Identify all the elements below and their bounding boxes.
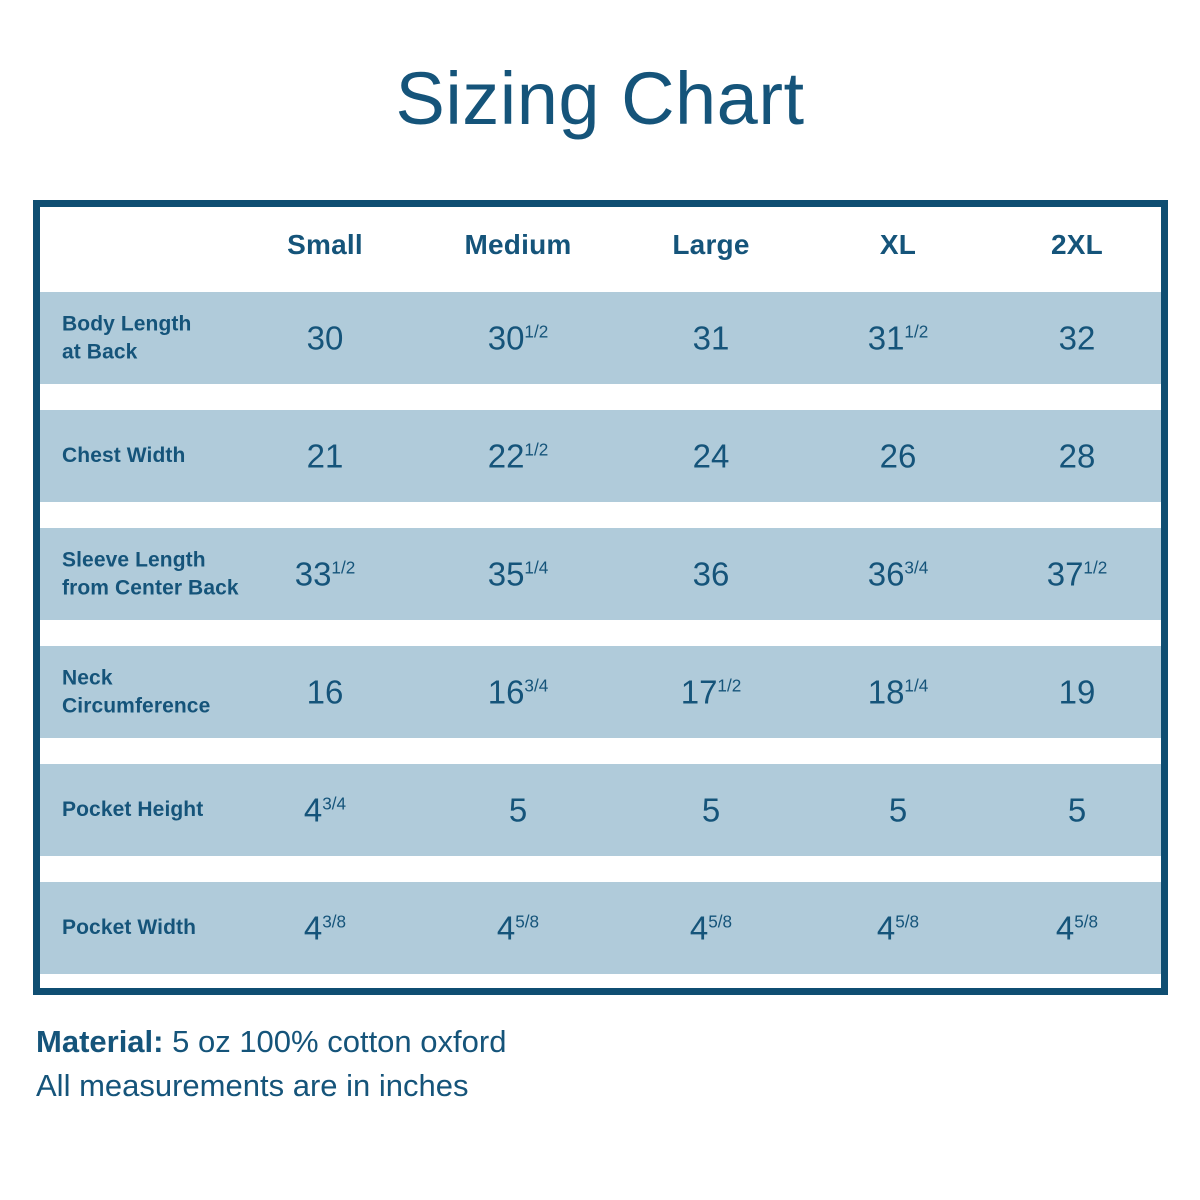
- measurement-whole: 30: [307, 320, 344, 357]
- sizing-table: SmallMediumLargeXL2XL Body Length at Bac…: [33, 200, 1168, 995]
- measurement-whole: 33: [295, 556, 332, 593]
- material-note: Material: 5 oz 100% cotton oxford: [36, 1020, 836, 1064]
- measurement-whole: 31: [693, 320, 730, 357]
- measurement-whole: 4: [877, 910, 895, 947]
- row-label: Pocket Height: [62, 796, 203, 824]
- measurement-fraction: 1/2: [524, 322, 548, 342]
- column-header-large: Large: [672, 229, 749, 261]
- measurement-fraction: 3/4: [904, 558, 928, 578]
- measurement-cell: 45/8: [877, 912, 919, 945]
- measurement-fraction: 1/2: [1083, 558, 1107, 578]
- column-header-2xl: 2XL: [1051, 229, 1103, 261]
- page-title: Sizing Chart: [0, 62, 1200, 136]
- row-label: Chest Width: [62, 442, 185, 470]
- units-note: All measurements are in inches: [36, 1064, 836, 1108]
- measurement-whole: 17: [681, 674, 718, 711]
- measurement-cell: 171/2: [681, 676, 742, 709]
- table-row: Sleeve Length from Center Back331/2351/4…: [40, 528, 1161, 620]
- measurement-whole: 16: [488, 674, 525, 711]
- measurement-cell: 5: [702, 794, 720, 827]
- measurement-cell: 5: [889, 794, 907, 827]
- measurement-cell: 371/2: [1047, 558, 1108, 591]
- measurement-fraction: 1/2: [904, 322, 928, 342]
- column-header-small: Small: [287, 229, 363, 261]
- measurement-whole: 19: [1059, 674, 1096, 711]
- measurement-fraction: 1/2: [717, 676, 741, 696]
- measurement-whole: 36: [868, 556, 905, 593]
- measurement-fraction: 5/8: [515, 912, 539, 932]
- material-label: Material:: [36, 1024, 163, 1059]
- row-label: Body Length at Back: [62, 310, 191, 365]
- measurement-cell: 19: [1059, 676, 1096, 709]
- table-row: Neck Circumference16163/4171/2181/419: [40, 646, 1161, 738]
- table-row: Pocket Height43/45555: [40, 764, 1161, 856]
- table-header-row: SmallMediumLargeXL2XL: [40, 207, 1161, 292]
- measurement-fraction: 5/8: [895, 912, 919, 932]
- measurement-whole: 5: [702, 792, 720, 829]
- footer-notes: Material: 5 oz 100% cotton oxford All me…: [36, 1020, 836, 1108]
- table-row: Chest Width21221/2242628: [40, 410, 1161, 502]
- measurement-whole: 26: [880, 438, 917, 475]
- measurement-whole: 4: [304, 910, 322, 947]
- measurement-cell: 28: [1059, 440, 1096, 473]
- measurement-cell: 163/4: [488, 676, 549, 709]
- measurement-fraction: 3/8: [322, 912, 346, 932]
- measurement-fraction: 5/8: [708, 912, 732, 932]
- measurement-whole: 4: [304, 792, 322, 829]
- measurement-whole: 24: [693, 438, 730, 475]
- measurement-whole: 36: [693, 556, 730, 593]
- sizing-chart-page: Sizing Chart SmallMediumLargeXL2XL Body …: [0, 0, 1200, 1200]
- row-label: Neck Circumference: [62, 664, 210, 719]
- measurement-cell: 221/2: [488, 440, 549, 473]
- measurement-whole: 5: [889, 792, 907, 829]
- sizing-table-body: SmallMediumLargeXL2XL Body Length at Bac…: [40, 207, 1161, 988]
- measurement-cell: 36: [693, 558, 730, 591]
- measurement-whole: 4: [1056, 910, 1074, 947]
- measurement-cell: 31: [693, 322, 730, 355]
- measurement-whole: 32: [1059, 320, 1096, 357]
- measurement-cell: 331/2: [295, 558, 356, 591]
- measurement-cell: 311/2: [868, 322, 929, 355]
- measurement-whole: 22: [488, 438, 525, 475]
- measurement-cell: 32: [1059, 322, 1096, 355]
- measurement-fraction: 1/4: [904, 676, 928, 696]
- table-row: Body Length at Back30301/231311/232: [40, 292, 1161, 384]
- measurement-whole: 4: [497, 910, 515, 947]
- measurement-whole: 28: [1059, 438, 1096, 475]
- measurement-fraction: 1/2: [524, 440, 548, 460]
- measurement-whole: 5: [1068, 792, 1086, 829]
- measurement-cell: 21: [307, 440, 344, 473]
- material-value: 5 oz 100% cotton oxford: [172, 1024, 506, 1059]
- measurement-cell: 45/8: [690, 912, 732, 945]
- measurement-whole: 35: [488, 556, 525, 593]
- measurement-cell: 30: [307, 322, 344, 355]
- measurement-cell: 5: [509, 794, 527, 827]
- measurement-cell: 5: [1068, 794, 1086, 827]
- measurement-whole: 18: [868, 674, 905, 711]
- measurement-cell: 16: [307, 676, 344, 709]
- measurement-cell: 45/8: [1056, 912, 1098, 945]
- measurement-fraction: 3/4: [322, 794, 346, 814]
- measurement-cell: 301/2: [488, 322, 549, 355]
- measurement-cell: 26: [880, 440, 917, 473]
- measurement-whole: 21: [307, 438, 344, 475]
- measurement-whole: 37: [1047, 556, 1084, 593]
- measurement-whole: 16: [307, 674, 344, 711]
- measurement-cell: 24: [693, 440, 730, 473]
- measurement-fraction: 1/2: [331, 558, 355, 578]
- measurement-fraction: 3/4: [524, 676, 548, 696]
- measurement-cell: 43/8: [304, 912, 346, 945]
- measurement-cell: 351/4: [488, 558, 549, 591]
- measurement-whole: 30: [488, 320, 525, 357]
- measurement-whole: 4: [690, 910, 708, 947]
- measurement-fraction: 1/4: [524, 558, 548, 578]
- measurement-fraction: 5/8: [1074, 912, 1098, 932]
- measurement-cell: 181/4: [868, 676, 929, 709]
- column-header-xl: XL: [880, 229, 916, 261]
- column-header-medium: Medium: [465, 229, 572, 261]
- measurement-whole: 31: [868, 320, 905, 357]
- measurement-cell: 45/8: [497, 912, 539, 945]
- table-row: Pocket Width43/845/845/845/845/8: [40, 882, 1161, 974]
- measurement-cell: 43/4: [304, 794, 346, 827]
- row-label: Sleeve Length from Center Back: [62, 546, 239, 601]
- measurement-whole: 5: [509, 792, 527, 829]
- row-label: Pocket Width: [62, 914, 196, 942]
- measurement-cell: 363/4: [868, 558, 929, 591]
